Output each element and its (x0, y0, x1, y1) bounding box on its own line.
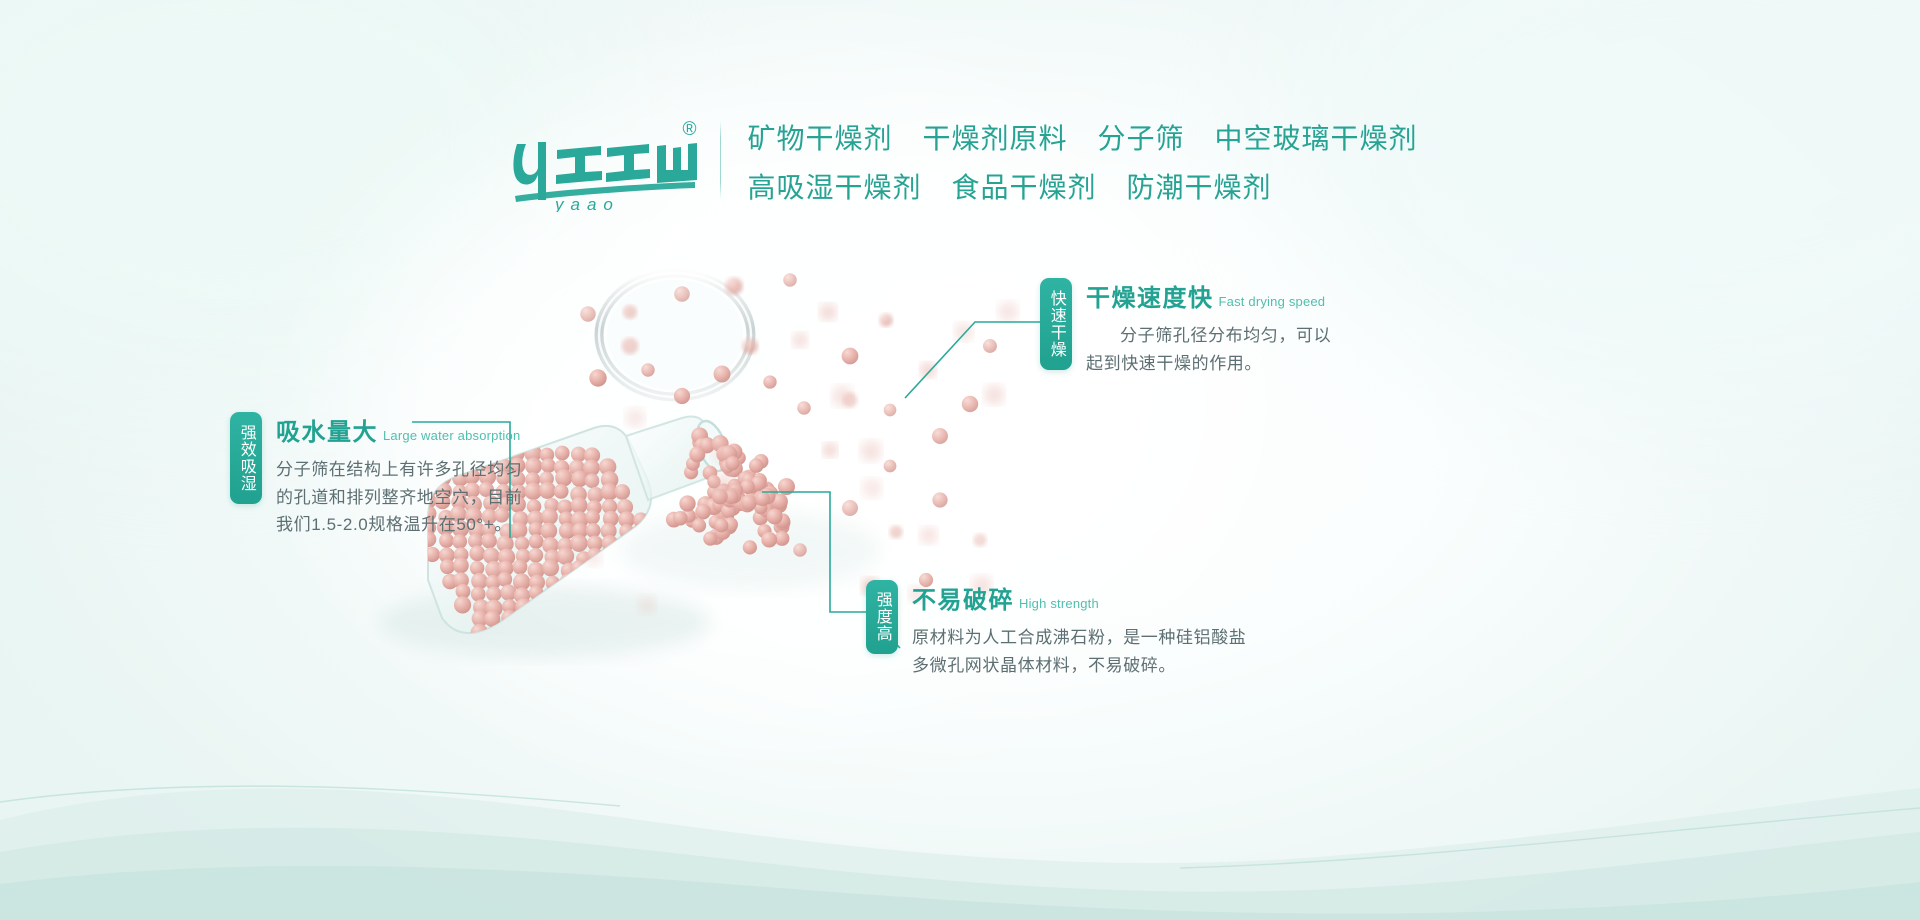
nav-item-high-moisture-absorption-desiccant[interactable]: 高吸湿干燥剂 (747, 166, 921, 206)
callout-title-en: Fast drying speed (1219, 294, 1326, 309)
callout-high-strength: 强度高 不易破碎 High strength 原材料为人工合成沸石粉，是一种硅铝… (866, 580, 1246, 679)
nav-item-moisture-proof-desiccant[interactable]: 防潮干燥剂 (1127, 166, 1272, 206)
nav-row-1: 矿物干燥剂 干燥剂原料 分子筛 中空玻璃干燥剂 (747, 117, 1417, 157)
product-category-nav: 矿物干燥剂 干燥剂原料 分子筛 中空玻璃干燥剂 高吸湿干燥剂 食品干燥剂 防潮干… (747, 115, 1417, 206)
callout-title-cn: 不易破碎 (912, 580, 1014, 615)
callout-heading: 不易破碎 High strength (912, 580, 1246, 615)
callout-text-block: 不易破碎 High strength 原材料为人工合成沸石粉，是一种硅铝酸盐 多… (912, 580, 1246, 679)
badge-fast-drying: 快速干燥 (1040, 278, 1072, 370)
registered-mark-icon: ® (682, 120, 696, 139)
callout-heading: 干燥速度快 Fast drying speed (1086, 278, 1331, 313)
badge-high-strength: 强度高 (866, 580, 898, 654)
nav-item-mineral-desiccant[interactable]: 矿物干燥剂 (747, 117, 892, 157)
callout-title-en: High strength (1019, 596, 1099, 611)
header-divider (720, 121, 721, 199)
site-header: ® yaao 矿物干燥剂 (0, 108, 1920, 212)
nav-item-desiccant-raw-material[interactable]: 干燥剂原料 (922, 117, 1067, 157)
callout-text-block: 吸水量大 Large water absorption 分子筛在结构上有许多孔径… (276, 412, 522, 539)
decorative-waves (0, 670, 1920, 920)
brand-logo[interactable]: ® yaao (502, 108, 702, 212)
nav-row-2: 高吸湿干燥剂 食品干燥剂 防潮干燥剂 (747, 166, 1417, 206)
callout-body: 分子筛在结构上有许多孔径均匀 的孔道和排列整齐地空穴，目前 我们1.5-2.0规… (276, 456, 522, 539)
callout-title-en: Large water absorption (383, 428, 520, 443)
callout-fast-drying-speed: 快速干燥 干燥速度快 Fast drying speed 分子筛孔径分布均匀，可… (1040, 278, 1331, 377)
svg-text:yaao: yaao (554, 195, 620, 212)
nav-item-insulating-glass-desiccant[interactable]: 中空玻璃干燥剂 (1215, 117, 1418, 157)
badge-strong-moisture-absorption: 强效吸湿 (230, 412, 262, 504)
nav-item-food-desiccant[interactable]: 食品干燥剂 (951, 166, 1096, 206)
logo-wordmark-icon: yaao (507, 126, 697, 212)
callout-text-block: 干燥速度快 Fast drying speed 分子筛孔径分布均匀，可以 起到快… (1086, 278, 1331, 377)
callout-title-cn: 吸水量大 (276, 412, 378, 447)
callout-large-water-absorption: 强效吸湿 吸水量大 Large water absorption 分子筛在结构上… (230, 412, 522, 539)
callout-body: 分子筛孔径分布均匀，可以 起到快速干燥的作用。 (1086, 322, 1331, 377)
callout-title-cn: 干燥速度快 (1086, 278, 1214, 313)
banner-stage: ® yaao 矿物干燥剂 (0, 0, 1920, 920)
nav-item-molecular-sieve[interactable]: 分子筛 (1098, 117, 1185, 157)
callout-heading: 吸水量大 Large water absorption (276, 412, 522, 447)
